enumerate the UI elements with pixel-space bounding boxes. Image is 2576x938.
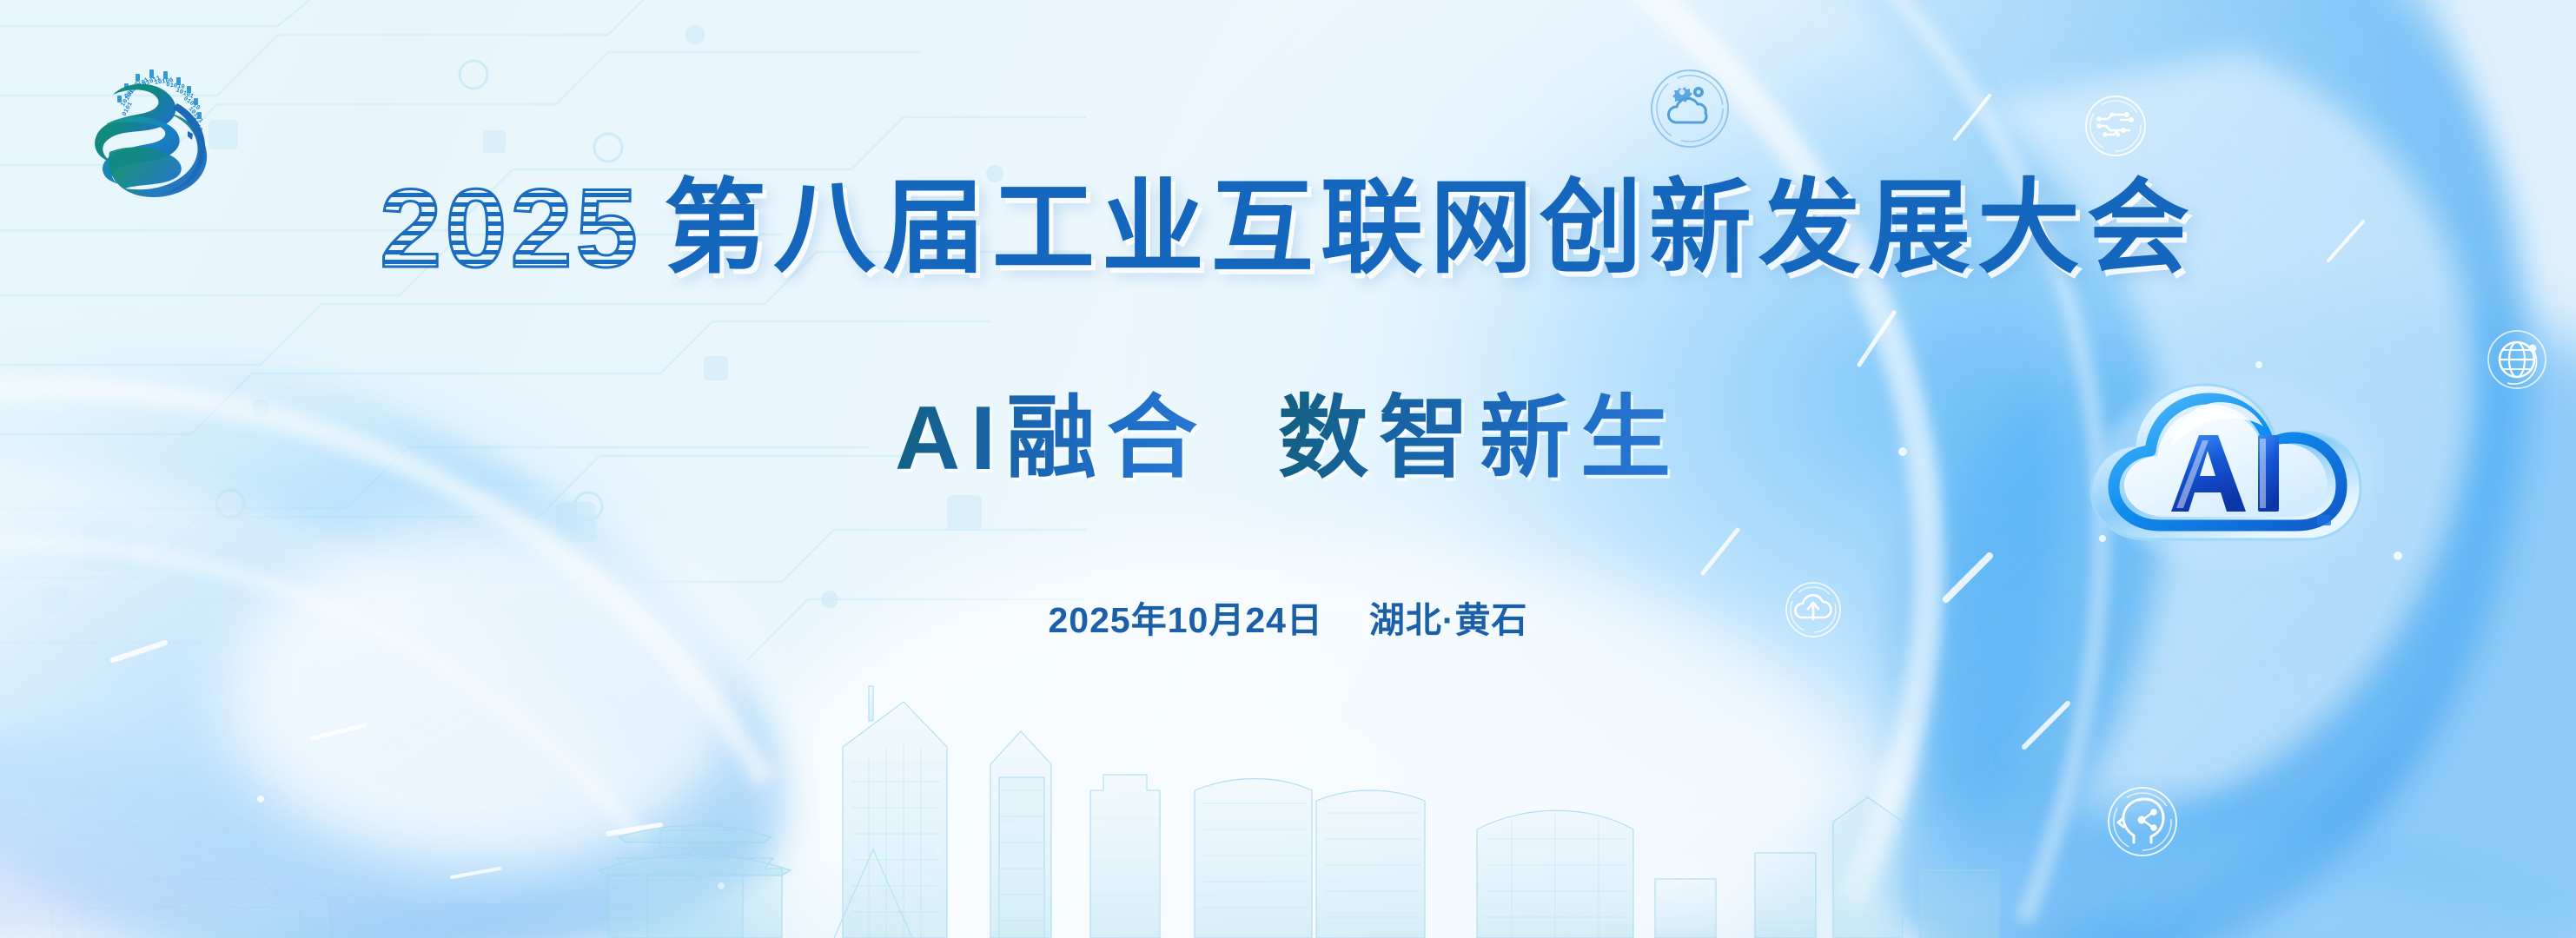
date-location-bar: 2025年10月24日 湖北·黄石 [0, 591, 2576, 643]
conference-banner: 10101 01010 10101 01011 10100 01010 1010… [0, 0, 2576, 938]
page-title: 第八届工业互联网创新发展大会 [664, 177, 2196, 280]
ai-brain-head-icon [2103, 782, 2182, 862]
circuit-node-icon [2081, 91, 2150, 161]
globe-orbit-icon [2483, 326, 2551, 393]
conference-date: 2025年10月24日 [1049, 600, 1323, 640]
slogan-left: AI融合 [895, 382, 1208, 495]
headline-block: 2025 第八届工业互联网创新发展大会 [0, 170, 2576, 281]
slogan-right: 数智新生 [1278, 382, 1681, 495]
ai-cloud-graphic [2081, 360, 2394, 578]
conference-location: 湖北·黄石 [1369, 600, 1528, 640]
cloud-upload-icon [1781, 578, 1845, 642]
conference-year: 2025 [380, 174, 641, 285]
cloud-gear-icon [1646, 65, 1733, 152]
city-skyline-watermark [0, 651, 2576, 938]
